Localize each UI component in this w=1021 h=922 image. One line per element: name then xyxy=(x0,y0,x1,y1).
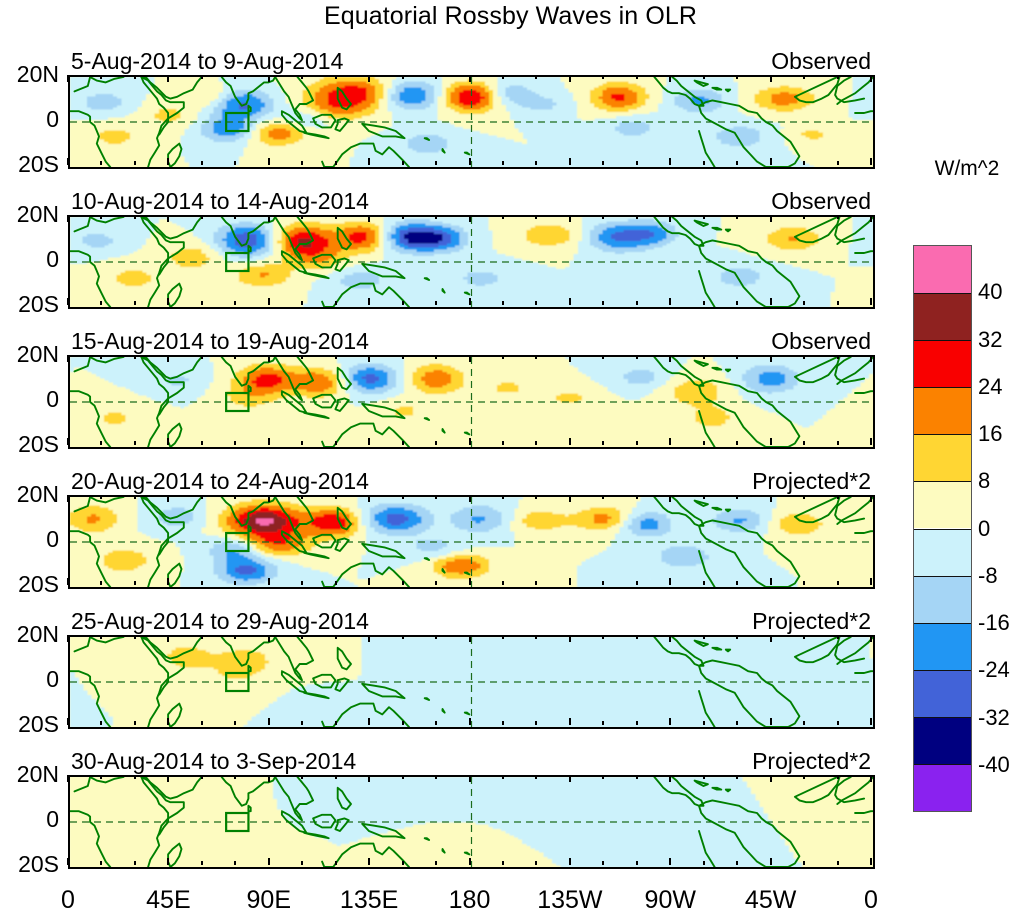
colorbar-tick-label: 40 xyxy=(978,279,1002,305)
y-axis-label: 20S xyxy=(18,153,59,176)
colorbar-tick-label: -24 xyxy=(978,657,1010,683)
y-axis-label: 0 xyxy=(46,388,59,411)
colorbar-tick-label: -16 xyxy=(978,610,1010,636)
x-axis-tick-label: 180 xyxy=(449,886,491,915)
y-axis-label: 20S xyxy=(18,293,59,316)
page-title: Equatorial Rossby Waves in OLR xyxy=(0,2,1021,31)
colorbar xyxy=(913,245,972,812)
colorbar-tick-label: 0 xyxy=(978,516,990,542)
panel-plot-area xyxy=(68,75,875,169)
colorbar-units-label: W/m^2 xyxy=(913,157,1021,181)
colorbar-tick-label: 32 xyxy=(978,327,1002,353)
x-axis-tick-label: 0 xyxy=(864,886,878,915)
panel-header: 15-Aug-2014 to 19-Aug-2014Observed xyxy=(68,328,871,354)
colorbar-tick-label: 8 xyxy=(978,468,990,494)
x-axis-labels: 045E90E135E180135W90W45W0 xyxy=(68,886,871,916)
x-axis-tick-label: 45W xyxy=(745,886,796,915)
y-axis-label: 0 xyxy=(46,808,59,831)
y-axis-label: 20N xyxy=(17,63,59,86)
panel-kind-label: Projected*2 xyxy=(752,468,871,495)
panel-kind-label: Observed xyxy=(771,188,871,215)
colorbar-band xyxy=(914,670,971,717)
panel-header: 20-Aug-2014 to 24-Aug-2014Projected*2 xyxy=(68,468,871,494)
panel-date-range: 20-Aug-2014 to 24-Aug-2014 xyxy=(71,468,369,495)
panel-kind-label: Projected*2 xyxy=(752,608,871,635)
colorbar-band xyxy=(914,576,971,623)
y-axis-label: 20N xyxy=(17,203,59,226)
y-axis-label: 20S xyxy=(18,433,59,456)
panel-date-range: 30-Aug-2014 to 3-Sep-2014 xyxy=(71,748,356,775)
x-axis-tick-label: 0 xyxy=(61,886,75,915)
y-axis-label: 20S xyxy=(18,713,59,736)
colorbar-band xyxy=(914,340,971,387)
panel-date-range: 5-Aug-2014 to 9-Aug-2014 xyxy=(71,48,343,75)
colorbar-band xyxy=(914,481,971,528)
panel-plot-area xyxy=(68,355,875,449)
y-axis-label: 0 xyxy=(46,668,59,691)
colorbar-band xyxy=(914,246,971,293)
panel-header: 30-Aug-2014 to 3-Sep-2014Projected*2 xyxy=(68,748,871,774)
y-axis-label: 0 xyxy=(46,108,59,131)
colorbar-band xyxy=(914,529,971,576)
x-axis-tick-label: 45E xyxy=(146,886,190,915)
panel-plot-area xyxy=(68,775,875,869)
colorbar-tick-label: 16 xyxy=(978,421,1002,447)
y-axis-label: 20S xyxy=(18,573,59,596)
y-axis-label: 0 xyxy=(46,248,59,271)
colorbar-tick-label: -40 xyxy=(978,752,1010,778)
panel-plot-area xyxy=(68,495,875,589)
panel-date-range: 25-Aug-2014 to 29-Aug-2014 xyxy=(71,608,369,635)
panel-header: 10-Aug-2014 to 14-Aug-2014Observed xyxy=(68,188,871,214)
colorbar-band xyxy=(914,387,971,434)
colorbar-tick-label: -8 xyxy=(978,563,998,589)
colorbar-band xyxy=(914,717,971,764)
panel-date-range: 10-Aug-2014 to 14-Aug-2014 xyxy=(71,188,369,215)
y-axis-label: 20N xyxy=(17,343,59,366)
panel-date-range: 15-Aug-2014 to 19-Aug-2014 xyxy=(71,328,369,355)
y-axis-label: 20N xyxy=(17,763,59,786)
colorbar-band xyxy=(914,434,971,481)
x-axis-tick-label: 90W xyxy=(645,886,696,915)
colorbar-tick-label: -32 xyxy=(978,705,1010,731)
y-axis-label: 20S xyxy=(18,853,59,876)
panel-header: 25-Aug-2014 to 29-Aug-2014Projected*2 xyxy=(68,608,871,634)
colorbar-band xyxy=(914,293,971,340)
colorbar-tick-label: 24 xyxy=(978,374,1002,400)
panel-plot-area xyxy=(68,215,875,309)
x-axis-tick-label: 90E xyxy=(247,886,291,915)
colorbar-tick-labels: 4032241680-8-16-24-32-40 xyxy=(978,245,1021,812)
panel-kind-label: Observed xyxy=(771,48,871,75)
colorbar-band xyxy=(914,623,971,670)
panel-header: 5-Aug-2014 to 9-Aug-2014Observed xyxy=(68,48,871,74)
x-axis-tick-label: 135W xyxy=(537,886,602,915)
colorbar-band xyxy=(914,764,971,811)
panel-kind-label: Observed xyxy=(771,328,871,355)
panel-kind-label: Projected*2 xyxy=(752,748,871,775)
panel-plot-area xyxy=(68,635,875,729)
y-axis-label: 20N xyxy=(17,483,59,506)
y-axis-label: 20N xyxy=(17,623,59,646)
x-axis-tick-label: 135E xyxy=(340,886,398,915)
y-axis-label: 0 xyxy=(46,528,59,551)
